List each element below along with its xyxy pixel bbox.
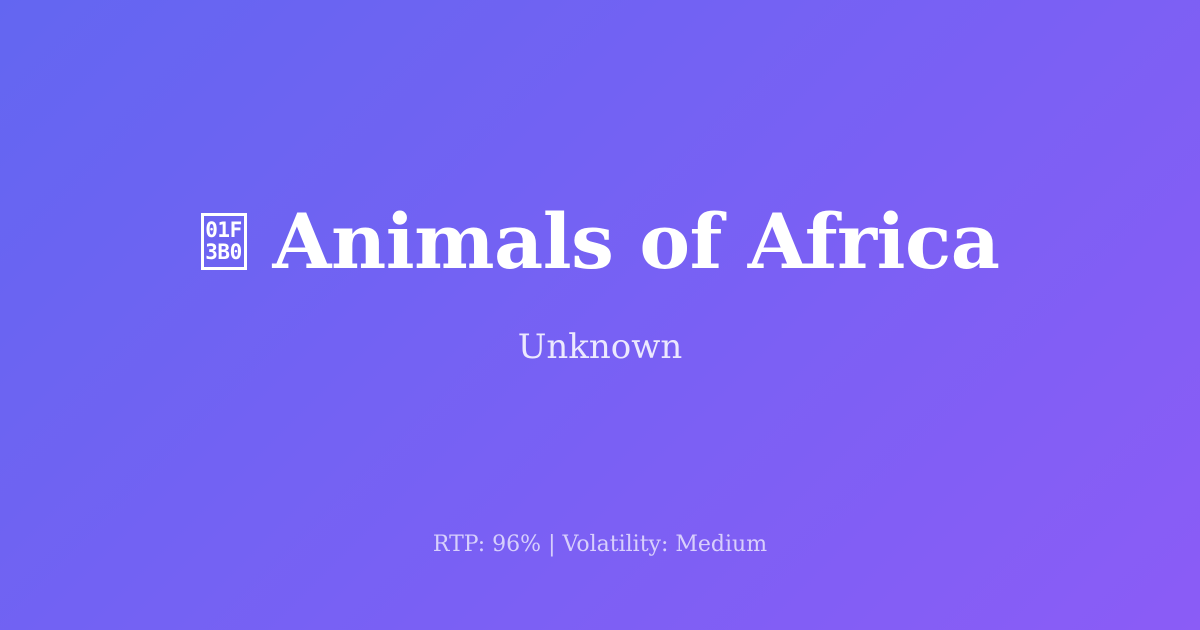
glyph-codepoint-line1: 01F <box>205 220 241 242</box>
slot-machine-icon: 01F 3B0 <box>201 213 247 270</box>
game-preview-card: 01F 3B0 Animals of Africa Unknown RTP: 9… <box>0 0 1200 630</box>
game-stats-line: RTP: 96% | Volatility: Medium <box>0 531 1200 560</box>
provider-subtitle: Unknown <box>518 327 683 368</box>
glyph-codepoint-line2: 3B0 <box>205 242 241 264</box>
page-title: Animals of Africa <box>273 201 1000 283</box>
title-row: 01F 3B0 Animals of Africa <box>0 201 1200 283</box>
